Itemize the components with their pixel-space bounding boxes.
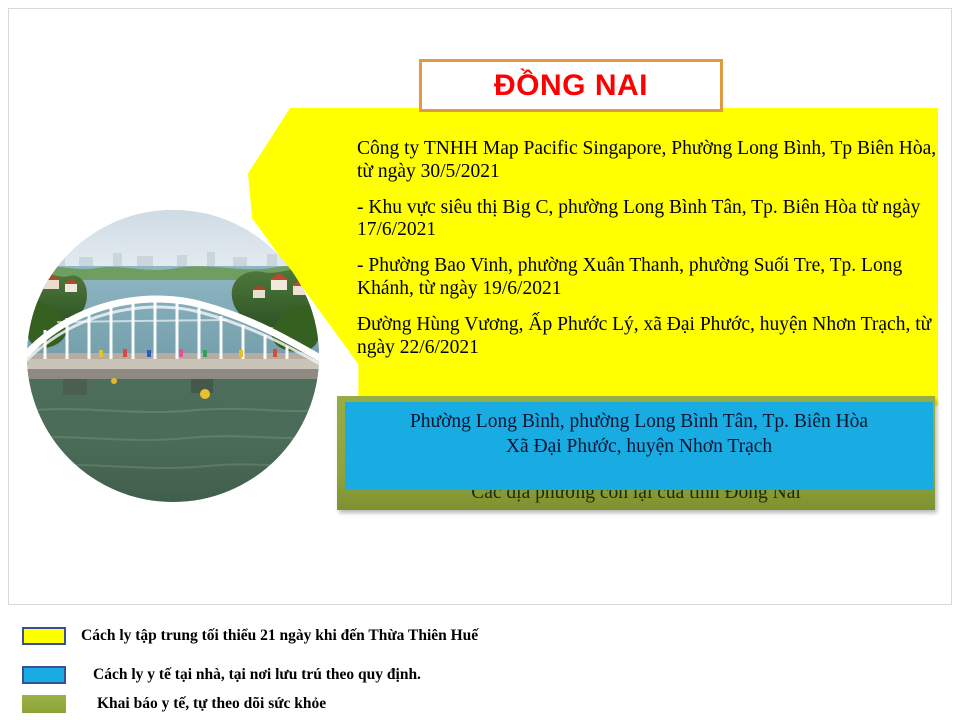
page-title: ĐỒNG NAI: [494, 71, 648, 101]
yellow-item-0: Công ty TNHH Map Pacific Singapore, Phườ…: [357, 138, 937, 184]
slide-canvas: Công ty TNHH Map Pacific Singapore, Phườ…: [0, 0, 960, 720]
yellow-item-1: - Khu vực siêu thị Big C, phường Long Bì…: [357, 197, 937, 243]
bridge-photo: [27, 210, 319, 502]
legend-label-2: Khai báo y tế, tự theo dõi sức khỏe: [97, 695, 326, 713]
legend-label-0: Cách ly tập trung tối thiểu 21 ngày khi …: [81, 627, 478, 645]
province-title-box: ĐỒNG NAI: [419, 59, 723, 112]
legend-label-1: Cách ly y tế tại nhà, tại nơi lưu trú th…: [93, 666, 421, 684]
blue-box-line-2: Xã Đại Phước, huyện Nhơn Trạch: [506, 435, 772, 460]
slide-frame-right: [951, 8, 952, 604]
green-swatch-icon: [22, 695, 66, 713]
legend-row-quarantine-centralized: Cách ly tập trung tối thiểu 21 ngày khi …: [22, 627, 478, 645]
slide-frame-bottom: [8, 604, 952, 605]
slide-frame-top: [8, 8, 952, 9]
yellow-item-3: Đường Hùng Vương, Ấp Phước Lý, xã Đại Ph…: [357, 314, 937, 360]
slide-frame-left: [8, 8, 9, 604]
legend-row-health-declaration: Khai báo y tế, tự theo dõi sức khỏe: [22, 695, 326, 713]
blue-box-text: Phường Long Bình, phường Long Bình Tân, …: [345, 402, 933, 490]
bridge-photo-illustration: [27, 210, 319, 502]
blue-box-line-1: Phường Long Bình, phường Long Bình Tân, …: [410, 410, 868, 435]
yellow-item-2: - Phường Bao Vinh, phường Xuân Thanh, ph…: [357, 255, 937, 301]
yellow-callout-text: Công ty TNHH Map Pacific Singapore, Phườ…: [357, 138, 937, 360]
legend-row-quarantine-home: Cách ly y tế tại nhà, tại nơi lưu trú th…: [22, 666, 421, 684]
yellow-swatch-icon: [22, 627, 66, 645]
blue-swatch-icon: [22, 666, 66, 684]
